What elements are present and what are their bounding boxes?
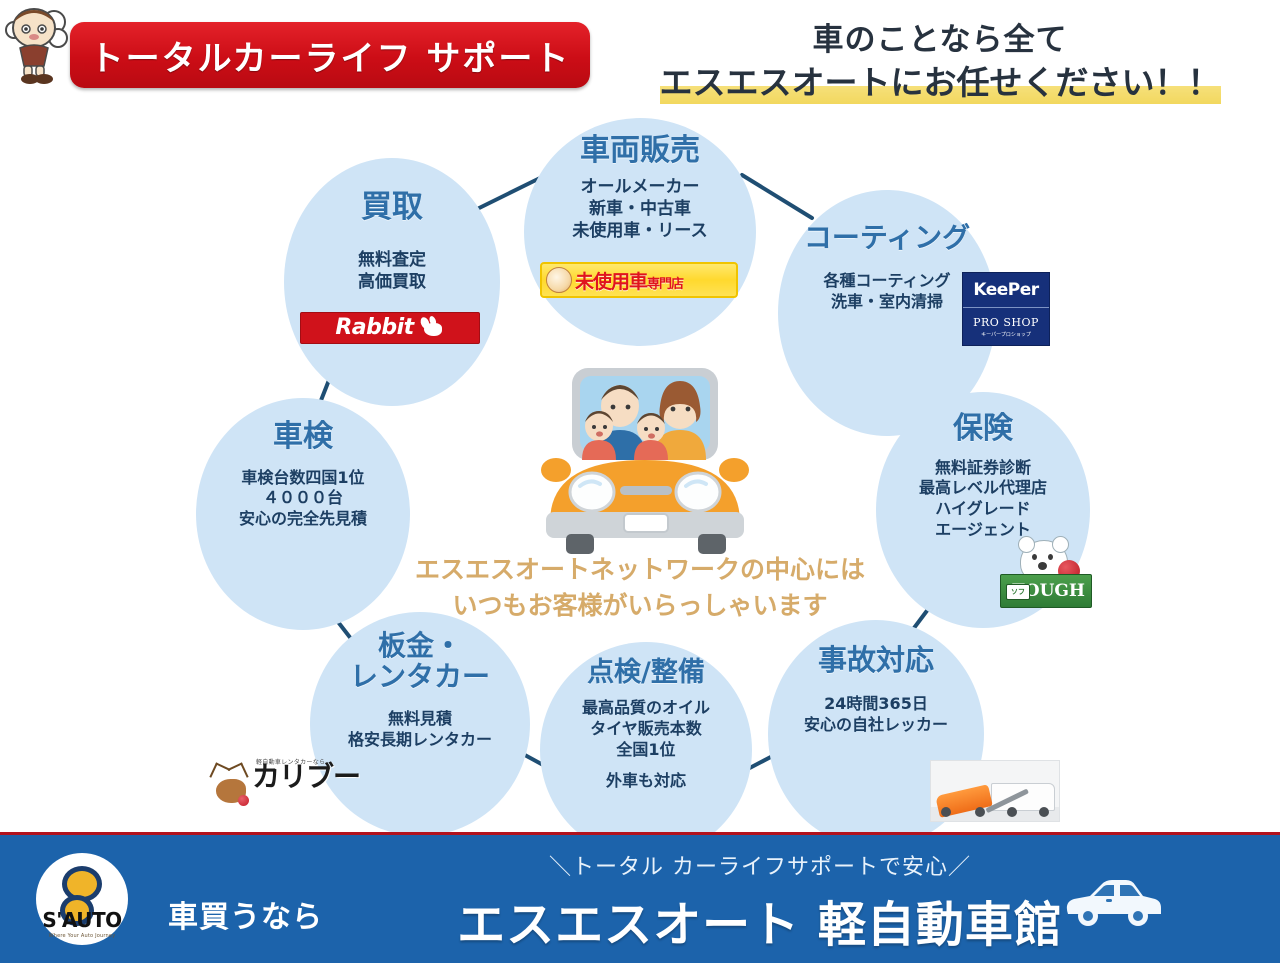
logo-keeper-sub: キーパープロショップ bbox=[981, 331, 1031, 338]
service-line: タイヤ販売本数 bbox=[582, 719, 710, 740]
wheel-icon bbox=[975, 807, 985, 817]
service-title-coating: コーティング bbox=[804, 222, 970, 253]
footer-logo-name: S'AUTO bbox=[36, 908, 128, 932]
service-detail-bankin: 無料見積 格安長期レンタカー bbox=[348, 709, 492, 751]
logo-tough: TOUGH ソフ bbox=[1000, 540, 1092, 612]
logo-keeper-brand: KeePer bbox=[963, 273, 1049, 308]
service-line: オールメーカー bbox=[572, 176, 707, 198]
bear-ear-left-icon bbox=[1018, 536, 1035, 553]
logo-caribou: 軽自動車レンタカーなら カリブー bbox=[204, 757, 364, 813]
service-line: ４０００台 bbox=[239, 488, 367, 509]
service-bubble-kaitori[interactable]: 買取 無料査定 高価買取 bbox=[284, 158, 500, 406]
rabbit-icon bbox=[419, 317, 445, 339]
logo-tough-tag: ソフ bbox=[1006, 584, 1030, 600]
service-line: 高価買取 bbox=[358, 271, 426, 293]
service-line: 最高レベル代理店 bbox=[919, 478, 1047, 499]
service-detail-jiko: 24時間365日 安心の自社レッカー bbox=[804, 694, 948, 736]
service-line: 未使用車・リース bbox=[572, 220, 707, 242]
service-bubble-sales[interactable]: 車両販売 オールメーカー 新車・中古車 未使用車・リース bbox=[524, 118, 756, 346]
service-title-line: レンタカー bbox=[350, 661, 490, 692]
service-detail-hoken: 無料証券診断 最高レベル代理店 ハイグレード エージェント bbox=[919, 458, 1047, 541]
wheel-icon bbox=[941, 807, 951, 817]
footer-logo-sub: Where Your Auto Journey bbox=[36, 933, 128, 939]
logo-keeper-proshop: PRO SHOP bbox=[973, 316, 1039, 329]
center-copy: エスエスオートネットワークの中心には いつもお客様がいらっしゃいます bbox=[330, 552, 950, 623]
service-title-kaitori: 買取 bbox=[361, 190, 423, 225]
logo-rabbit: Rabbit bbox=[300, 312, 480, 344]
service-line: 最高品質のオイル bbox=[582, 698, 710, 719]
bear-ear-right-icon bbox=[1052, 536, 1069, 553]
service-line: 洗車・室内清掃 bbox=[823, 292, 950, 313]
logo-rabbit-text: Rabbit bbox=[335, 317, 413, 339]
footer-main-copy: ＼トータル カーライフサポートで安心／ エスエスオート 軽自動車館 bbox=[400, 849, 1120, 955]
footer-logo-sauto: S'AUTO Where Your Auto Journey bbox=[36, 853, 128, 945]
infographic-canvas: トータルカーライフ サポート 車のことなら全て エスエスオートにお任せください！… bbox=[0, 0, 1280, 960]
service-line: 車検台数四国1位 bbox=[239, 468, 367, 489]
footer-brand-name: エスエスオート 軽自動車館 bbox=[457, 897, 1063, 953]
footer-tagline: 車買うなら bbox=[168, 892, 323, 936]
logo-caribou-text: カリブー bbox=[252, 763, 360, 791]
service-detail-tenken: 最高品質のオイル タイヤ販売本数 全国1位 bbox=[582, 698, 710, 760]
footer-top-copy: ＼トータル カーライフサポートで安心／ bbox=[400, 849, 1120, 881]
service-line: 新車・中古車 bbox=[572, 198, 707, 220]
service-line: 24時間365日 bbox=[804, 694, 948, 715]
service-line: ハイグレード bbox=[919, 499, 1047, 520]
service-title-hoken: 保険 bbox=[953, 412, 1013, 446]
tow-truck-photo bbox=[930, 760, 1060, 822]
service-detail-sales: オールメーカー 新車・中古車 未使用車・リース bbox=[572, 176, 707, 242]
service-detail-kaitori: 無料査定 高価買取 bbox=[358, 249, 426, 293]
wheel-icon bbox=[1039, 807, 1049, 817]
logo-mishiyou-main: 未使用車 bbox=[575, 271, 647, 293]
logo-mishiyou-senmonten: 未使用車専門店 bbox=[540, 262, 738, 298]
family-car-illustration bbox=[520, 362, 770, 562]
mascot-icon bbox=[546, 267, 572, 293]
logo-mishiyou-small: 専門店 bbox=[647, 277, 683, 292]
bear-eye-right-icon bbox=[1048, 554, 1053, 560]
logo-keeper-body: PRO SHOP キーパープロショップ bbox=[963, 308, 1049, 345]
caribou-nose-icon bbox=[238, 795, 249, 806]
service-line: 無料見積 bbox=[348, 709, 492, 730]
service-line: 格安長期レンタカー bbox=[348, 730, 492, 751]
service-title-sales: 車両販売 bbox=[580, 134, 700, 168]
service-line: 各種コーティング bbox=[823, 271, 950, 292]
logo-mishiyou-text: 未使用車専門店 bbox=[575, 267, 683, 294]
logo-keeper: KeePer PRO SHOP キーパープロショップ bbox=[962, 272, 1050, 346]
bear-nose-icon bbox=[1038, 562, 1047, 570]
center-copy-line-1: エスエスオートネットワークの中心には bbox=[330, 552, 950, 588]
service-line: 無料証券診断 bbox=[919, 458, 1047, 479]
service-bubble-tenken[interactable]: 点検/整備 最高品質のオイル タイヤ販売本数 全国1位 外車も対応 bbox=[540, 642, 752, 858]
service-line: 全国1位 bbox=[582, 740, 710, 761]
center-copy-line-2: いつもお客様がいらっしゃいます bbox=[330, 588, 950, 624]
service-title-line: 板金・ bbox=[350, 630, 490, 661]
bear-eye-left-icon bbox=[1032, 554, 1037, 560]
service-detail-shaken: 車検台数四国1位 ４０００台 安心の完全先見積 bbox=[239, 468, 367, 530]
service-title-jiko: 事故対応 bbox=[818, 644, 934, 676]
service-line: 安心の完全先見積 bbox=[239, 509, 367, 530]
service-title-bankin: 板金・ レンタカー bbox=[350, 630, 490, 693]
service-line: 無料査定 bbox=[358, 249, 426, 271]
service-extra-tenken: 外車も対応 bbox=[606, 771, 686, 792]
service-detail-coating: 各種コーティング 洗車・室内清掃 bbox=[823, 271, 950, 313]
caribou-icon bbox=[208, 767, 252, 809]
service-line: 安心の自社レッカー bbox=[804, 715, 948, 736]
service-title-tenken: 点検/整備 bbox=[587, 658, 705, 688]
car-icon bbox=[1062, 872, 1166, 928]
wheel-icon bbox=[1007, 807, 1017, 817]
service-title-shaken: 車検 bbox=[273, 420, 333, 454]
